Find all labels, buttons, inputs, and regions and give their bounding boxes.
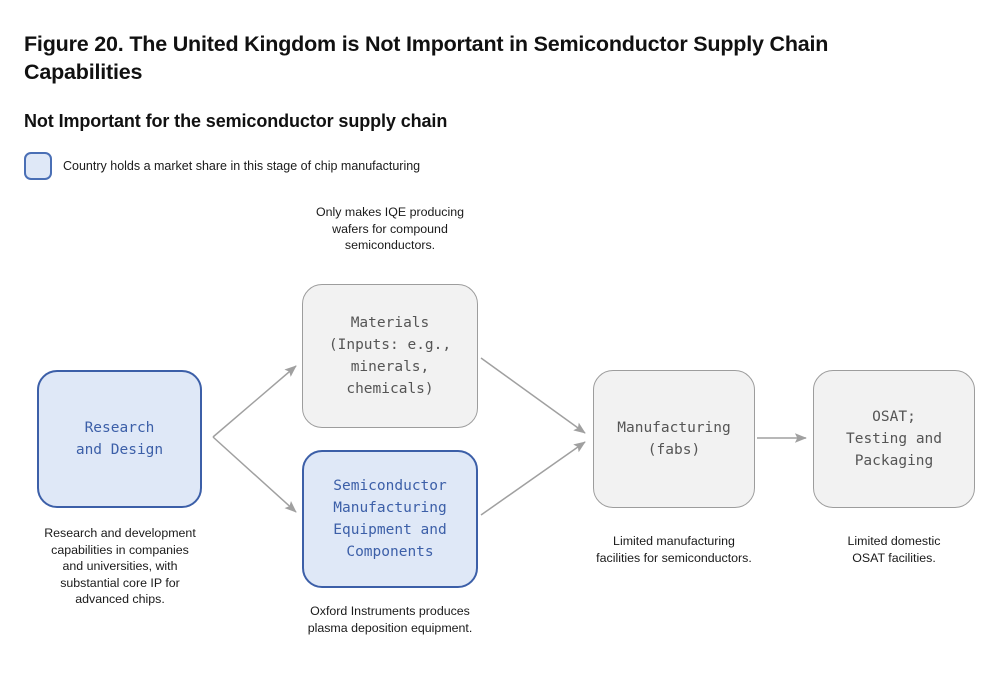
- caption-manufacturing: Limited manufacturing facilities for sem…: [574, 533, 774, 566]
- arrow-materials-to-manufacturing: [481, 358, 585, 433]
- legend: Country holds a market share in this sta…: [24, 152, 420, 180]
- arrow-research-to-materials: [213, 366, 296, 437]
- note-materials-above: Only makes IQE producing wafers for comp…: [280, 204, 500, 254]
- arrow-research-to-sme: [213, 437, 296, 512]
- caption-osat: Limited domestic OSAT facilities.: [794, 533, 994, 566]
- caption-research: Research and development capabilities in…: [20, 525, 220, 608]
- arrow-sme-to-manufacturing: [481, 442, 585, 515]
- figure-canvas: Figure 20. The United Kingdom is Not Imp…: [0, 0, 1000, 698]
- legend-swatch-icon: [24, 152, 52, 180]
- figure-subtitle: Not Important for the semiconductor supp…: [24, 110, 784, 133]
- node-semiconductor-manufacturing-equipment[interactable]: Semiconductor Manufacturing Equipment an…: [302, 450, 478, 588]
- legend-label: Country holds a market share in this sta…: [63, 159, 420, 174]
- figure-title: Figure 20. The United Kingdom is Not Imp…: [24, 30, 854, 87]
- node-materials[interactable]: Materials (Inputs: e.g., minerals, chemi…: [302, 284, 478, 428]
- node-osat-testing-packaging[interactable]: OSAT; Testing and Packaging: [813, 370, 975, 508]
- node-research-and-design[interactable]: Research and Design: [37, 370, 202, 508]
- node-manufacturing-fabs[interactable]: Manufacturing (fabs): [593, 370, 755, 508]
- note-sme-below: Oxford Instruments produces plasma depos…: [280, 603, 500, 636]
